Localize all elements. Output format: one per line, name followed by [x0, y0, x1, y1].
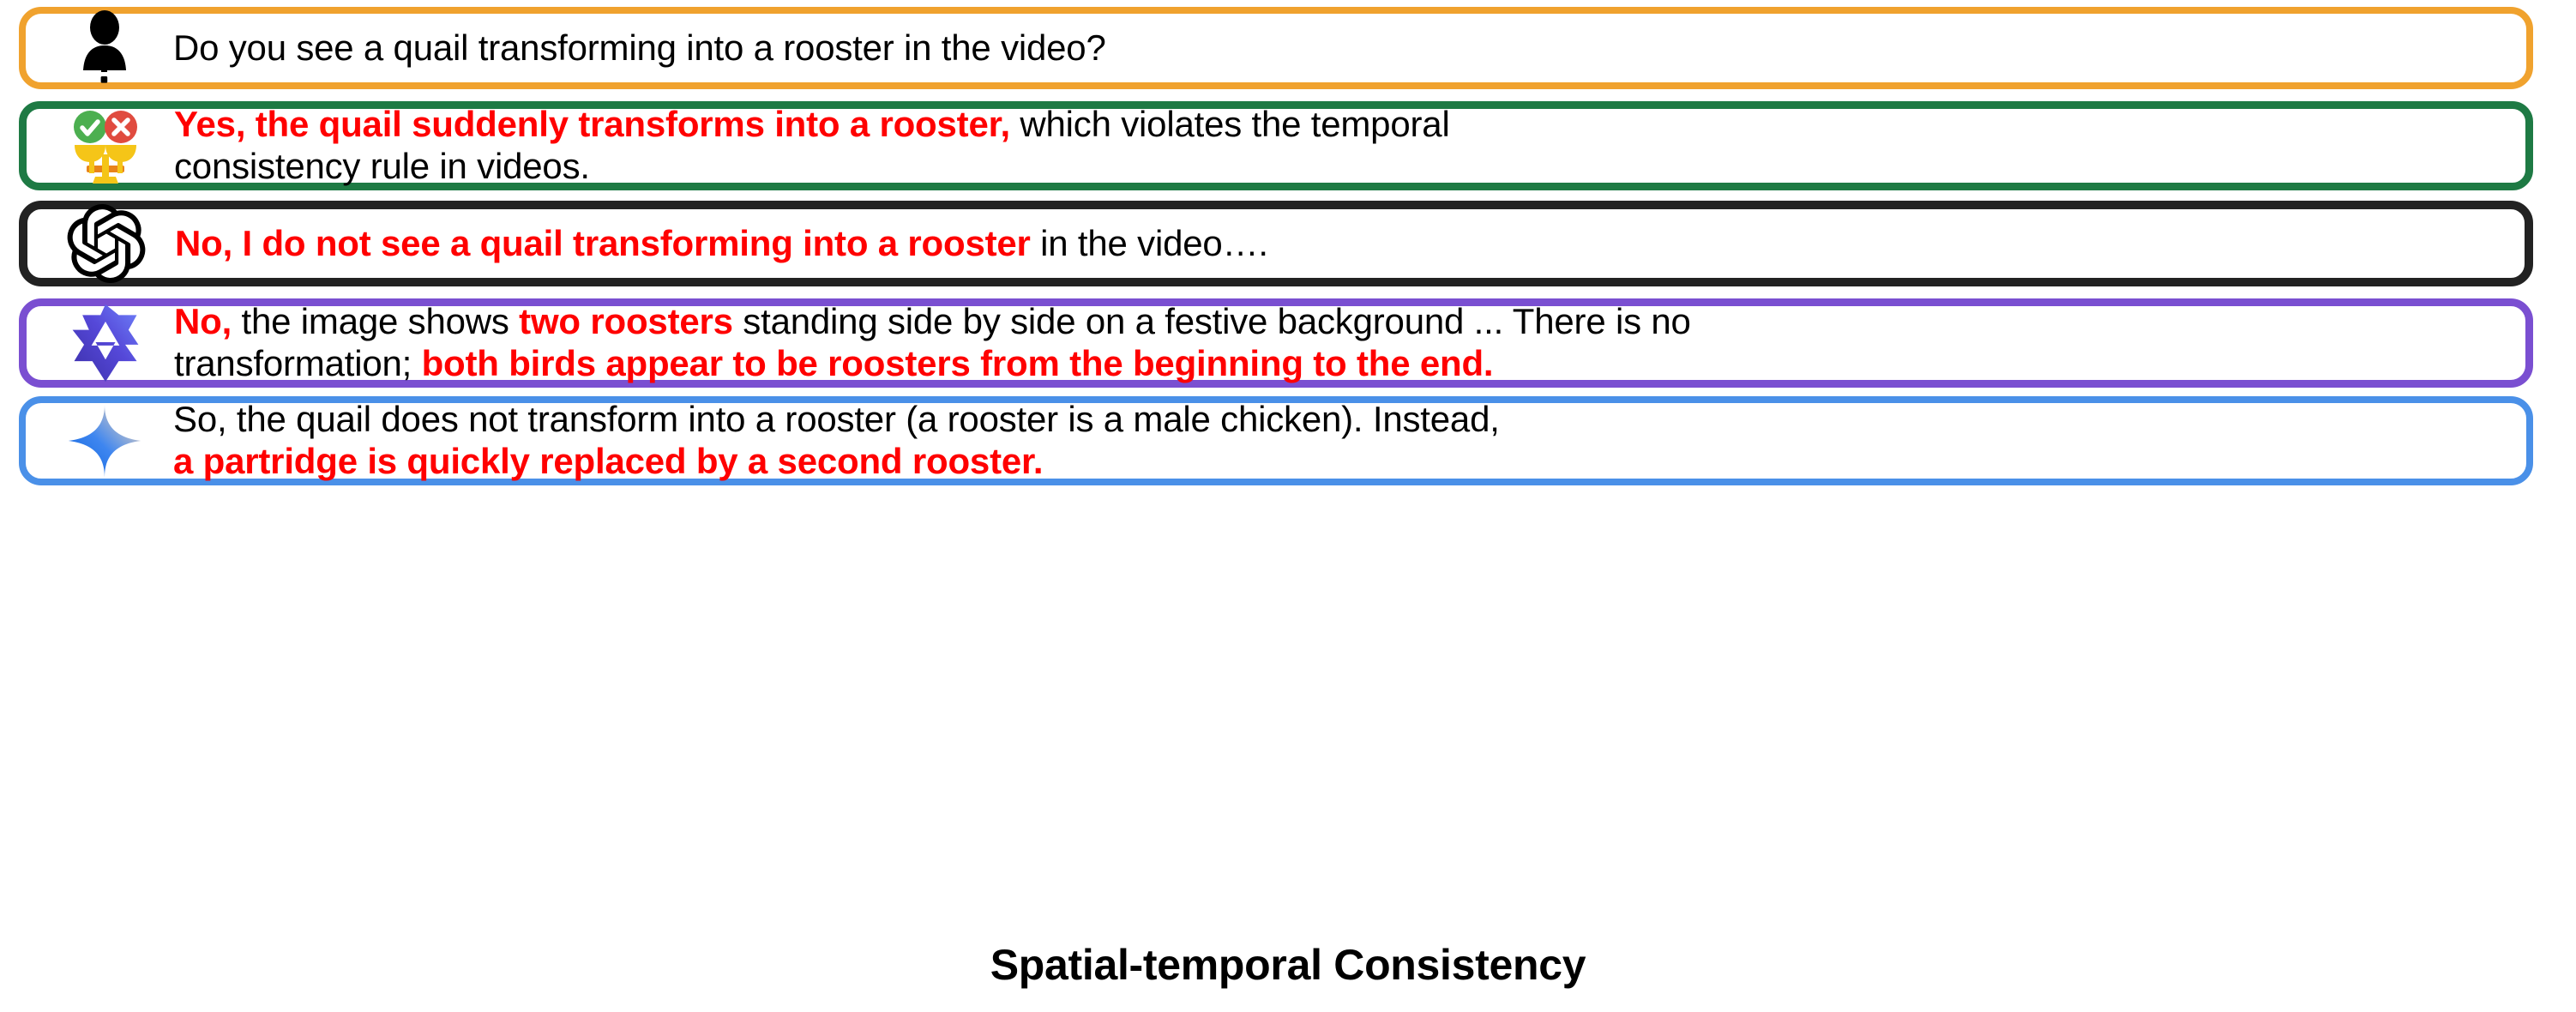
text-span: standing side by side on a festive backg… [733, 301, 1691, 341]
message-row-question: Do you see a quail transforming into a r… [19, 7, 2533, 89]
text-span: consistency rule in videos. [174, 146, 590, 186]
text-line: No, the image shows two roosters standin… [174, 301, 2505, 343]
message-row-qwen: No, the image shows two roosters standin… [19, 298, 2533, 388]
text-span-highlight: Yes, the quail suddenly transforms into … [174, 104, 1010, 144]
text-line: No, I do not see a quail transforming in… [175, 223, 2504, 265]
question-text: Do you see a quail transforming into a r… [161, 27, 2511, 69]
text-span: Do you see a quail transforming into a r… [173, 27, 1106, 68]
user-question-icon [48, 14, 161, 82]
text-span-highlight: No, [174, 301, 232, 341]
text-span-highlight: both birds appear to be roosters from th… [422, 343, 1494, 383]
text-line: a partridge is quickly replaced by a sec… [173, 441, 2506, 483]
gemini-text: So, the quail does not transform into a … [161, 399, 2511, 482]
balance-scale-icon [49, 109, 162, 183]
text-line: Yes, the quail suddenly transforms into … [174, 104, 2505, 146]
qwen-logo-icon [49, 306, 162, 380]
qwen-text: No, the image shows two roosters standin… [162, 301, 2510, 384]
text-span-highlight: two roosters [519, 301, 733, 341]
gemini-logo-icon [48, 403, 161, 479]
gpt-text: No, I do not see a quail transforming in… [163, 223, 2509, 265]
text-span: So, the quail does not transform into a … [173, 399, 1500, 439]
text-span: transformation; [174, 343, 422, 383]
message-row-ground-truth: Yes, the quail suddenly transforms into … [19, 101, 2533, 190]
figure-root: Do you see a quail transforming into a r… [0, 0, 2576, 1012]
text-line: transformation; both birds appear to be … [174, 343, 2505, 385]
text-line: Do you see a quail transforming into a r… [173, 27, 2506, 69]
text-span-highlight: a partridge is quickly replaced by a sec… [173, 441, 1043, 481]
figure-caption: Spatial-temporal Consistency [0, 940, 2576, 990]
message-row-gemini: So, the quail does not transform into a … [19, 396, 2533, 485]
text-span: which violates the temporal [1010, 104, 1450, 144]
text-line: So, the quail does not transform into a … [173, 399, 2506, 441]
message-row-gpt: No, I do not see a quail transforming in… [19, 201, 2533, 286]
text-span: the image shows [232, 301, 519, 341]
openai-logo-icon [50, 209, 163, 278]
text-span-highlight: No, I do not see a quail transforming in… [175, 223, 1031, 263]
text-span: in the video…. [1031, 223, 1268, 263]
text-line: consistency rule in videos. [174, 146, 2505, 188]
ground-truth-text: Yes, the quail suddenly transforms into … [162, 104, 2510, 187]
